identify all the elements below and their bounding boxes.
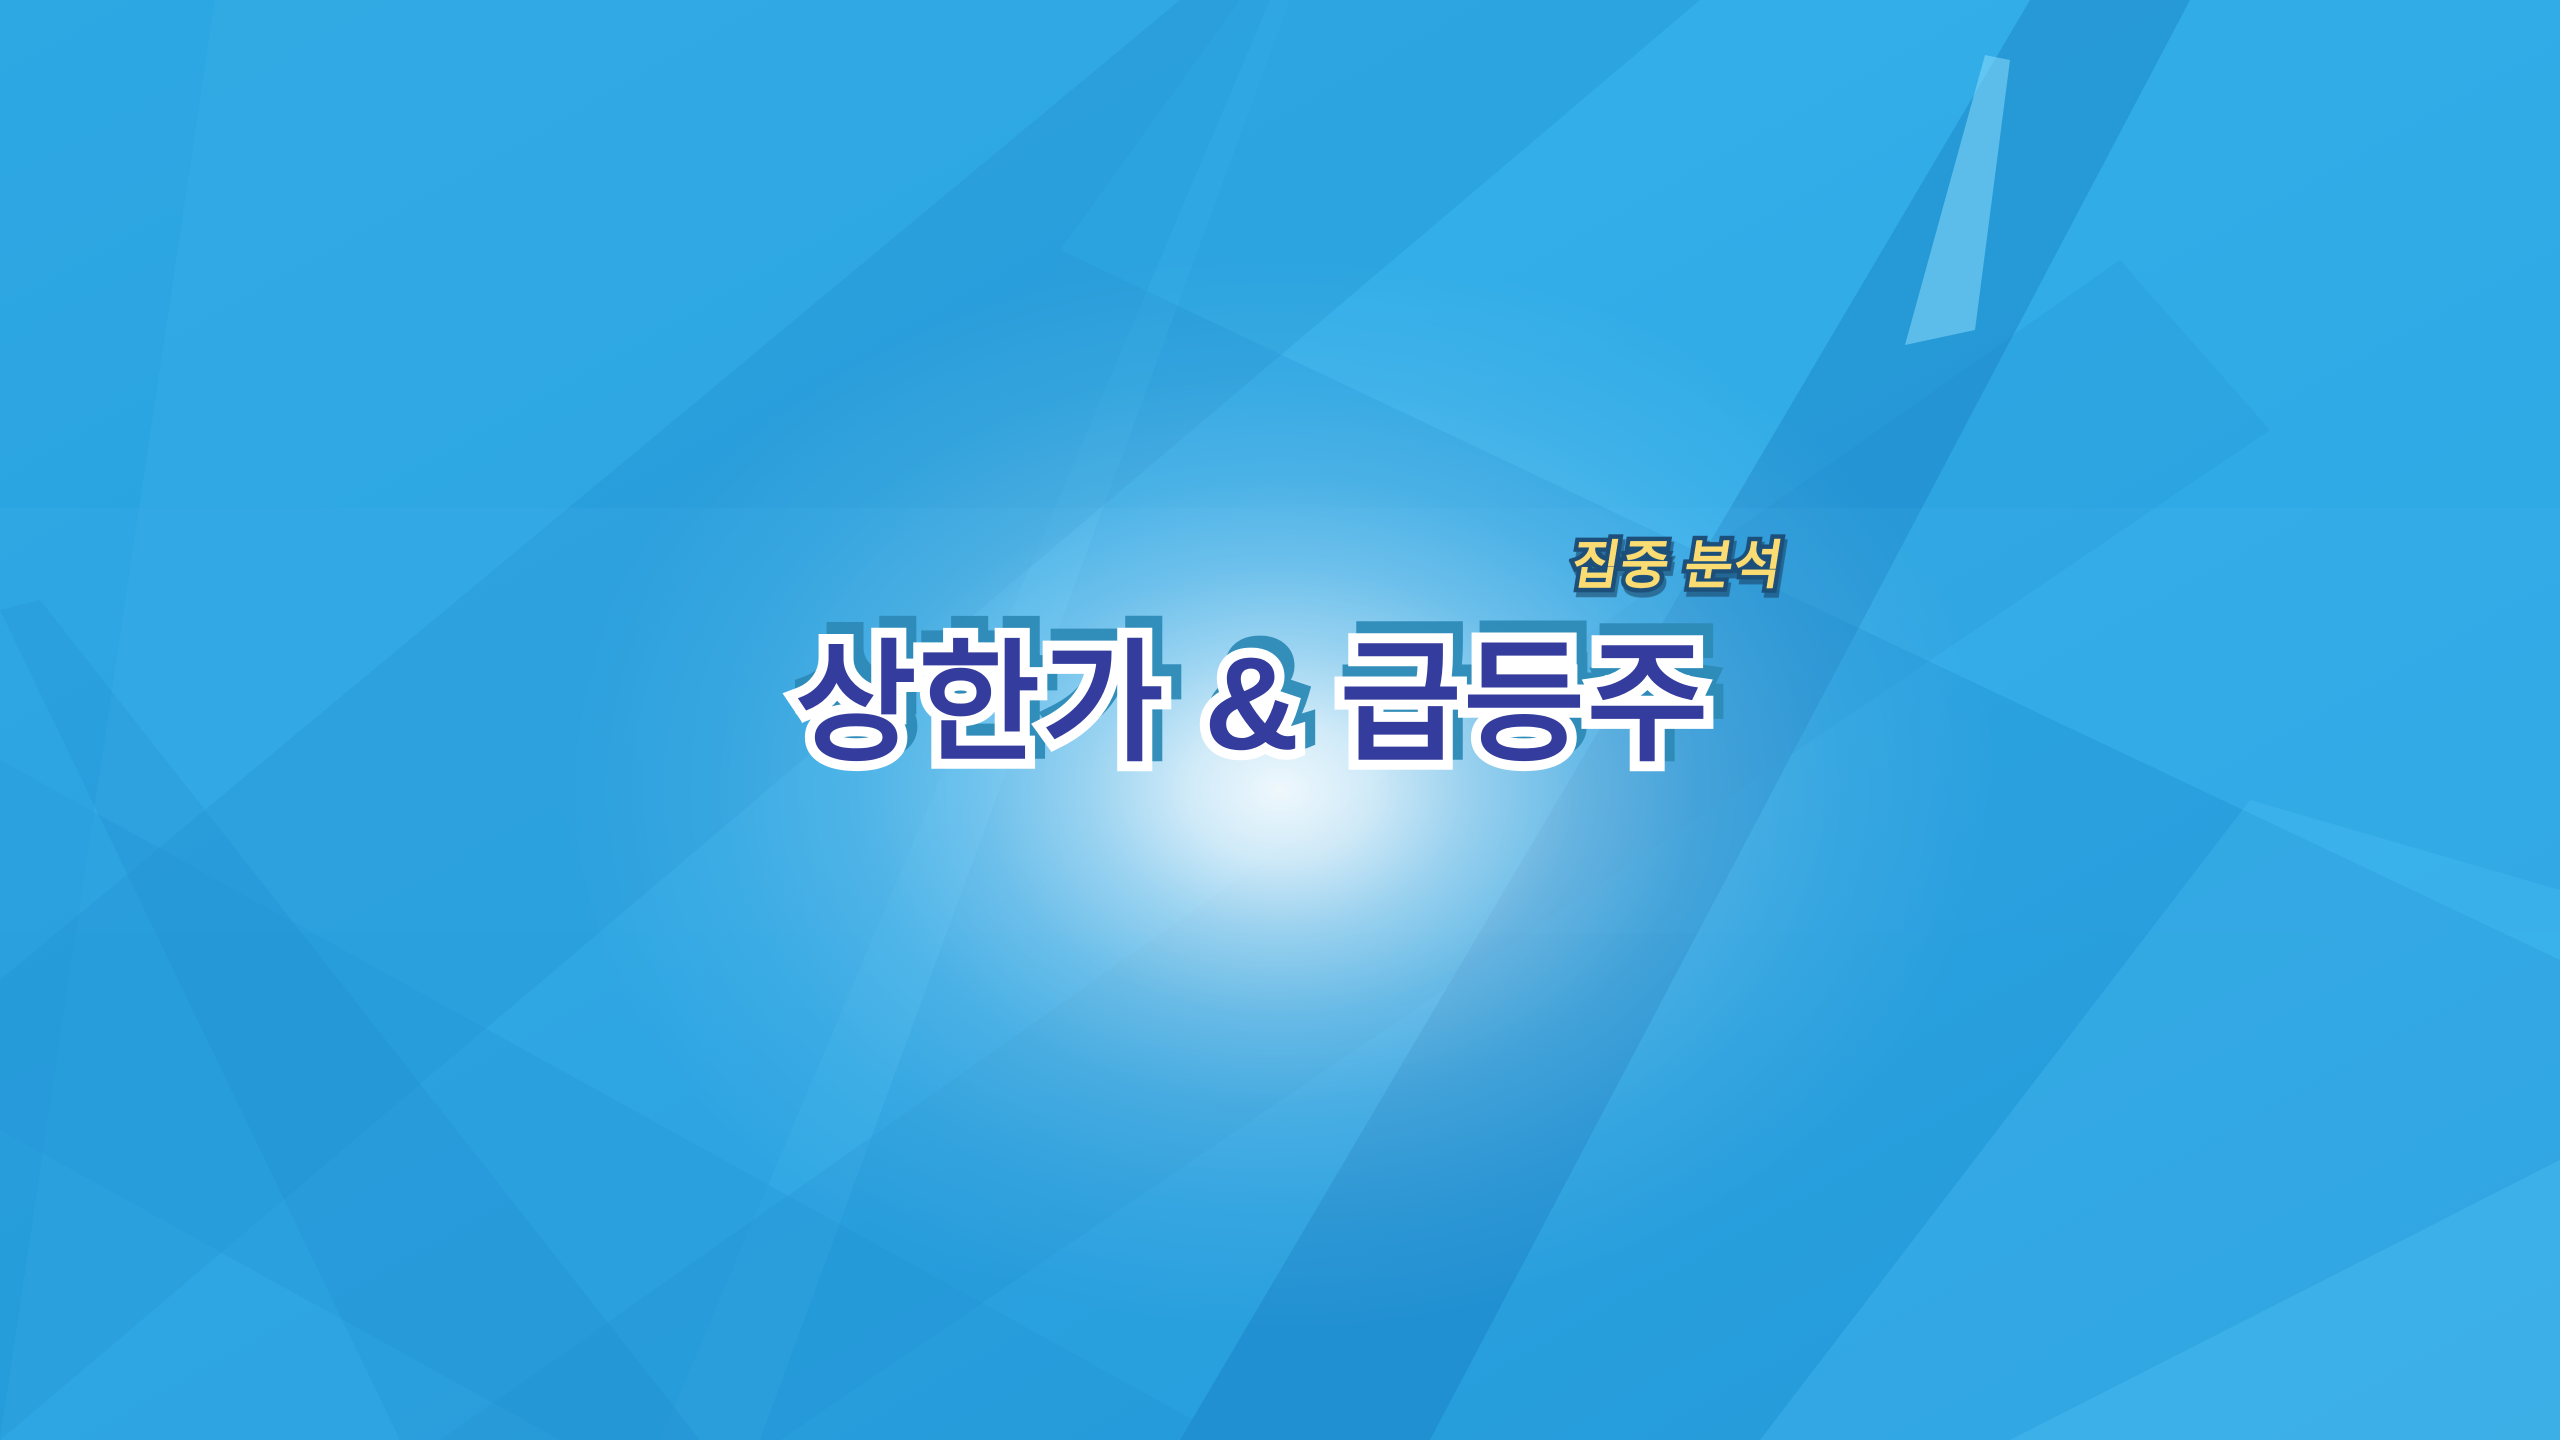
background-geometry	[0, 0, 2560, 1440]
title-card-canvas: 집중 분석 집중 분석 상한가 & 급등주 상한가 & 급등주 상한가 & 급등…	[0, 0, 2560, 1440]
